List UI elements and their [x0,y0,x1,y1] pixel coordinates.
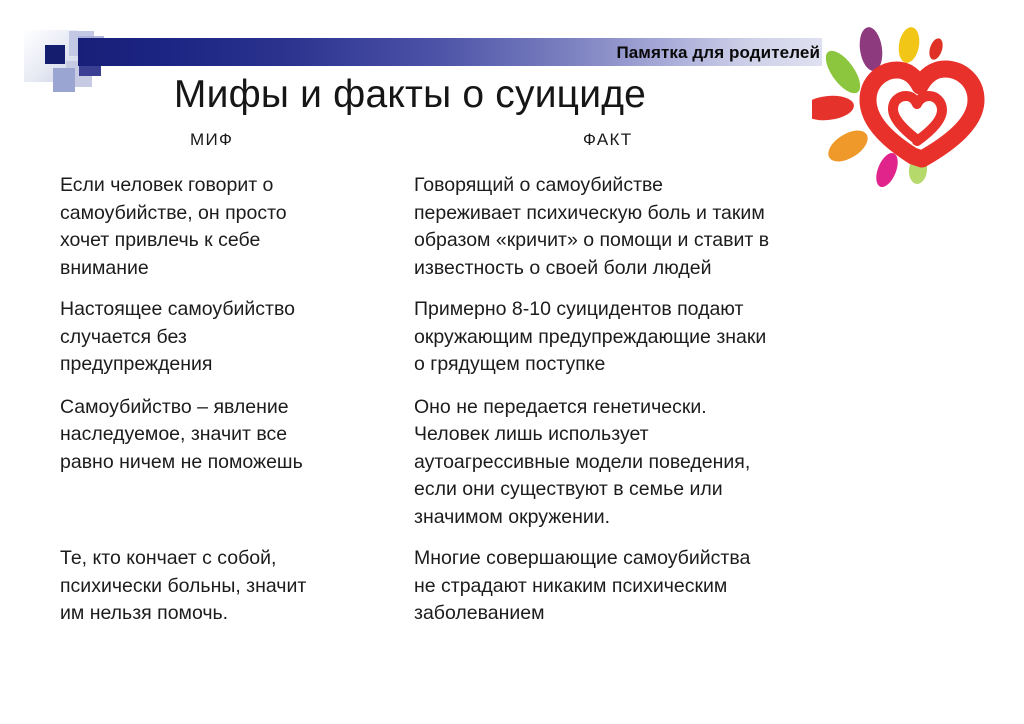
page-title: Мифы и факты о суициде [60,73,760,117]
banner-label: Памятка для родителей [540,41,820,64]
myths-facts-table: МИФ ФАКТ Если человек говорит о самоубий… [0,130,900,628]
table-column-headers: МИФ ФАКТ [0,130,900,160]
petal-yellow [896,26,922,65]
motif-square-dark [45,45,65,64]
table-row: Если человек говорит о самоубийстве, он … [0,172,900,282]
petal-green [819,45,866,98]
cell-fact: Многие совершающие самоубийства не страд… [414,545,876,628]
heart-inner [893,96,942,141]
cell-myth: Если человек говорит о самоубийстве, он … [60,172,402,282]
cell-fact: Оно не передается генетически. Человек л… [414,394,876,532]
table-row: Самоубийство – явление наследуемое, знач… [0,394,900,532]
cell-myth: Самоубийство – явление наследуемое, знач… [60,394,402,532]
table-rows: Если человек говорит о самоубийстве, он … [0,172,900,628]
cell-myth: Те, кто кончает с собой, психически боль… [60,545,402,628]
cell-fact: Примерно 8-10 суицидентов подают окружаю… [414,296,876,379]
table-row: Настоящее самоубийство случается без пре… [0,296,900,379]
cell-fact: Говорящий о самоубийстве переживает псих… [414,172,876,282]
cell-myth: Настоящее самоубийство случается без пре… [60,296,402,379]
column-header-fact: ФАКТ [583,130,632,150]
column-header-myth: МИФ [190,130,233,150]
petal-red-left [812,93,855,122]
table-row: Те, кто кончает с собой, психически боль… [0,545,900,628]
petal-red-small [927,37,945,62]
